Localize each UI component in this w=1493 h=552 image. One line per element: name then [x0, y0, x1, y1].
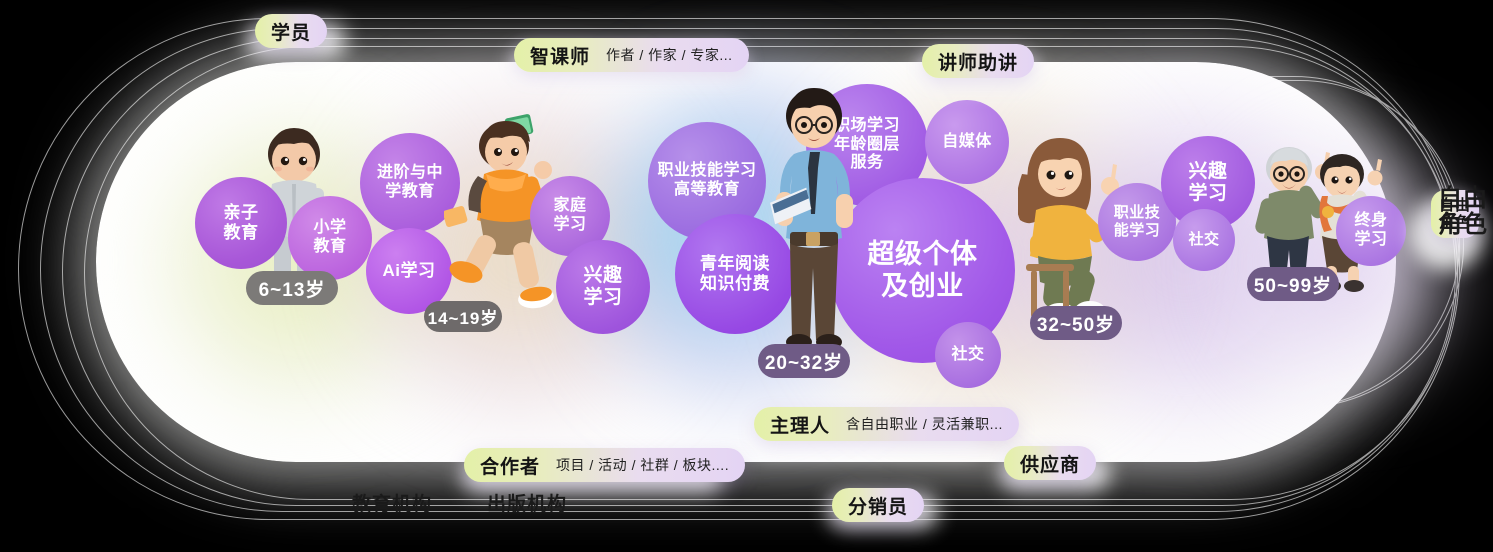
bubble-self-media[interactable]: 自媒体	[925, 100, 1009, 184]
age-20-32[interactable]: 20~32岁	[758, 344, 850, 378]
age-14-19[interactable]: 14~19岁	[424, 301, 502, 332]
bubble-interest-learning-youth[interactable]: 兴趣 学习	[556, 240, 650, 334]
bubble-label: 兴趣 学习	[583, 265, 622, 310]
bubble-label: 进阶与中 学教育	[377, 164, 443, 202]
plain-tag-label: 出版机构	[487, 494, 567, 515]
bubble-parent-child-education[interactable]: 亲子 教育	[195, 177, 287, 269]
role-tag-sublabel: 项目 / 活动 / 社群 / 板块....	[556, 455, 729, 475]
age-6-13[interactable]: 6~13岁	[246, 271, 338, 305]
bubble-social-center[interactable]: 社交	[935, 322, 1001, 388]
bubble-label: 终身 学习	[1354, 212, 1387, 250]
bubble-primary-education[interactable]: 小学 教育	[288, 196, 372, 280]
role-tag-label: 分销员	[848, 492, 908, 519]
figure-young-man	[758, 80, 870, 350]
age-label: 14~19岁	[428, 304, 499, 329]
bubble-label: 亲子 教育	[224, 203, 259, 243]
role-tag-assistant[interactable]: 讲师助讲	[922, 44, 1034, 78]
bubble-label: 职业技 能学习	[1114, 204, 1161, 239]
bubble-label: 自媒体	[942, 133, 992, 152]
role-tag-partner[interactable]: 合作者 项目 / 活动 / 社群 / 板块....	[464, 448, 745, 482]
bubble-social-right[interactable]: 社交	[1173, 209, 1235, 271]
age-label: 6~13岁	[259, 275, 326, 302]
bubble-label: Ai学习	[383, 261, 436, 281]
role-tag-student[interactable]: 学员	[255, 14, 327, 48]
plain-tag-education-institution[interactable]: 教育机构	[352, 489, 432, 516]
role-tag-sublabel: 作者 / 作家 / 专家...	[606, 45, 733, 65]
infographic-canvas: 亲子 教育 小学 教育 6~13岁 进阶与中 学教育 Ai学习	[0, 0, 1493, 552]
role-tag-host[interactable]: 主理人 含自由职业 / 灵活兼职...	[754, 407, 1019, 441]
bubble-label: 超级个体 及创业	[868, 239, 978, 303]
role-tag-sublabel: 含自由职业 / 灵活兼职...	[846, 414, 1003, 434]
role-tag-smart-teacher[interactable]: 智课师 作者 / 作家 / 专家...	[514, 38, 749, 72]
plain-tag-publishing-institution[interactable]: 出版机构	[487, 489, 567, 516]
plain-tag-free-role-outline[interactable]: 自由 角色	[1438, 186, 1488, 239]
role-tag-label: 学员	[271, 18, 311, 45]
bubble-label: 社交	[951, 346, 984, 365]
role-tag-supplier[interactable]: 供应商	[1004, 446, 1096, 480]
age-label: 32~50岁	[1037, 310, 1115, 337]
role-tag-label: 合作者	[480, 452, 540, 479]
age-32-50[interactable]: 32~50岁	[1030, 306, 1122, 340]
role-tag-distributor[interactable]: 分销员	[832, 488, 924, 522]
bubble-lifelong-learning[interactable]: 终身 学习	[1336, 196, 1406, 266]
age-label: 20~32岁	[765, 348, 843, 375]
role-tag-label: 智课师	[530, 42, 590, 69]
bubble-label: 小学 教育	[313, 219, 346, 257]
role-tag-label: 主理人	[770, 411, 830, 438]
bubble-label: 兴趣 学习	[1188, 161, 1227, 206]
role-tag-label: 讲师助讲	[938, 48, 1018, 75]
age-label: 50~99岁	[1254, 271, 1332, 298]
bubble-label: 家庭 学习	[553, 197, 586, 235]
bubble-label: 职业技能学习 高等教育	[657, 162, 756, 200]
bubble-label: 社交	[1188, 231, 1219, 249]
plain-tag-label: 教育机构	[352, 494, 432, 515]
age-50-99[interactable]: 50~99岁	[1247, 267, 1339, 301]
role-tag-label: 供应商	[1020, 450, 1080, 477]
